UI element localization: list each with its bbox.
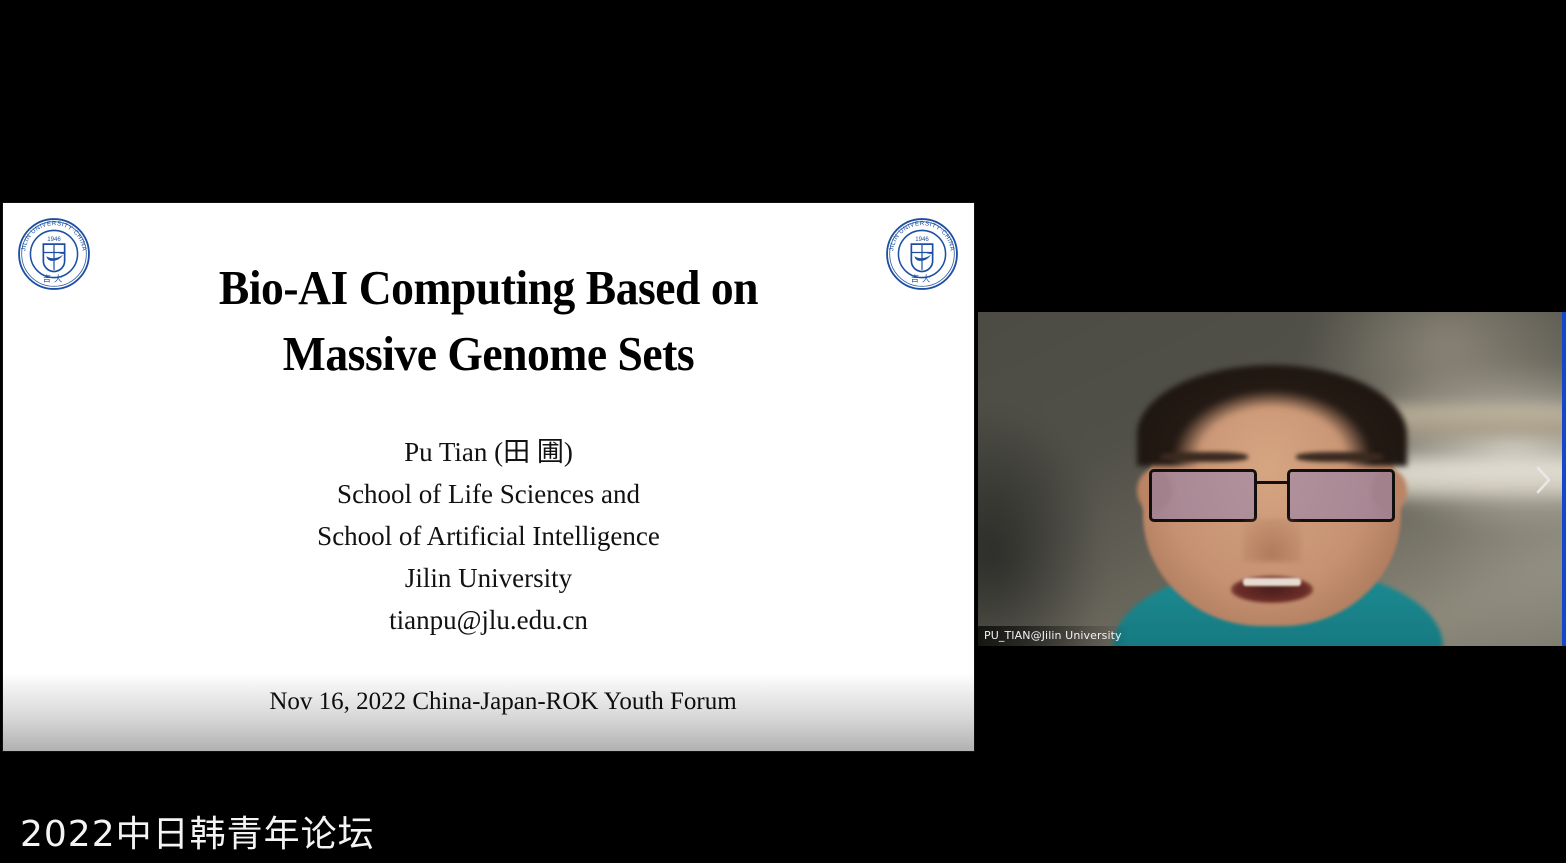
author-affiliation-line-2: School of Artificial Intelligence [63,515,914,557]
broadcast-caption: 2022中日韩青年论坛 [20,805,375,857]
slide-title: Bio-AI Computing Based on Massive Genome… [93,255,884,387]
jilin-university-seal-left-icon: JILIN UNIVERSITY·CHINA 1946 吉大 [16,216,92,292]
svg-text:1946: 1946 [47,236,61,243]
chevron-right-icon [1533,464,1553,496]
author-university-line: Jilin University [63,557,914,599]
author-affiliation-line-1: School of Life Sciences and [63,473,914,515]
slide-body: JILIN UNIVERSITY·CHINA 1946 吉大 [3,203,974,673]
next-page-button[interactable] [1529,460,1557,500]
participant-video-tile[interactable]: PU_TIAN@Jilin University [978,312,1566,646]
svg-text:吉大: 吉大 [43,273,66,283]
participant-eyebrow-left [1160,452,1248,462]
active-speaker-indicator [1562,312,1566,646]
eyeglass-lens-left [1149,469,1258,522]
author-email-line: tianpu@jlu.edu.cn [63,599,914,641]
slide-author-block: Pu Tian (田 圃) School of Life Sciences an… [63,431,914,641]
participant-eyeglasses [1149,469,1396,522]
participant-nose [1243,519,1302,562]
participant-teeth [1243,578,1302,586]
screen-share-view: JILIN UNIVERSITY·CHINA 1946 吉大 [0,0,1566,863]
slide-event-footnote: Nov 16, 2022 China-Japan-ROK Youth Forum [63,688,943,716]
participant-eyebrow-right [1296,452,1384,462]
participant-name-label: PU_TIAN@Jilin University [978,626,1130,646]
svg-text:1946: 1946 [915,236,929,243]
author-name-line: Pu Tian (田 圃) [63,431,914,473]
eyeglass-lens-right [1287,469,1396,522]
shared-slide[interactable]: JILIN UNIVERSITY·CHINA 1946 吉大 [3,203,974,751]
participant-hair [1137,365,1407,465]
eyeglass-bridge [1257,481,1287,484]
svg-text:吉大: 吉大 [911,273,934,283]
participant-webcam-image [978,312,1566,646]
jilin-university-seal-right-icon: JILIN UNIVERSITY·CHINA 1946 吉大 [884,216,960,292]
